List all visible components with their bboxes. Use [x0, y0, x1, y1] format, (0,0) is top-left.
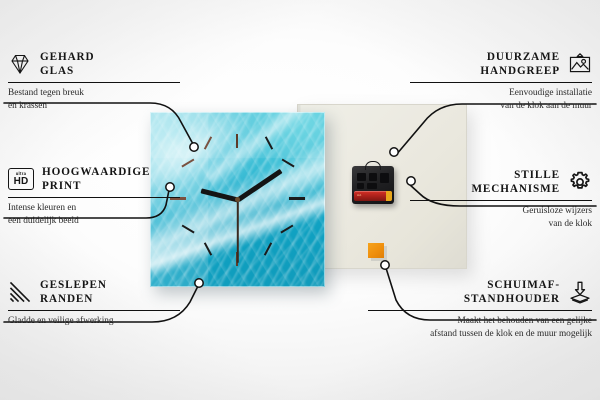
battery-label: AA: [357, 193, 361, 197]
clock-movement: AA: [352, 166, 394, 204]
download-stack-icon: [568, 280, 592, 304]
feature-rule: [8, 82, 180, 84]
feature-title: GEHARD GLAS: [40, 50, 95, 79]
feature-schuimafstandhouder: SCHUIMAF- STANDHOUDER Maakt het behouden…: [360, 278, 592, 340]
movement-hanger-hook: [365, 161, 381, 170]
feature-header: DUURZAME HANDGREEP: [402, 50, 592, 79]
feature-geslepen-randen: GESLEPEN RANDEN Gladde en veilige afwerk…: [8, 278, 188, 328]
feature-title-line1: GEHARD: [40, 51, 95, 63]
feature-header: GEHARD GLAS: [8, 50, 188, 79]
feature-desc-line1: Eenvoudige installatie: [402, 87, 592, 99]
feature-header: ultra HD HOOGWAARDIGE PRINT: [8, 165, 188, 194]
feature-rule: [410, 82, 592, 84]
feature-gehard-glas: GEHARD GLAS Bestand tegen breuk en krass…: [8, 50, 188, 112]
feature-desc-line1: Gladde en veilige afwerking: [8, 315, 188, 327]
movement-slot: [380, 173, 389, 183]
feature-title-line2: MECHANISME: [471, 182, 560, 196]
feature-title-line1: STILLE: [514, 169, 560, 181]
feature-header: GESLEPEN RANDEN: [8, 278, 188, 307]
feature-description: Bestand tegen breuk en krassen: [8, 87, 188, 112]
feature-stille-mechanisme: STILLE MECHANISME Geruisloze wijzers van…: [402, 168, 592, 230]
movement-slot: [357, 183, 364, 189]
feature-desc-line1: Maakt het behouden van een gelijke: [360, 315, 592, 327]
feature-rule: [8, 310, 180, 312]
feature-title: HOOGWAARDIGE PRINT: [42, 165, 150, 194]
feature-title-line1: DUURZAME: [487, 51, 560, 63]
feature-title-line1: GESLEPEN: [40, 279, 107, 291]
beveled-edge-icon: [8, 280, 32, 304]
feature-title-line2: RANDEN: [40, 292, 107, 306]
feature-desc-line1: Bestand tegen breuk: [8, 87, 188, 99]
movement-slot: [357, 173, 366, 181]
feature-description: Eenvoudige installatie van de klok aan d…: [402, 87, 592, 112]
feature-desc-line2: een duidelijk beeld: [8, 215, 188, 227]
feature-rule: [368, 310, 592, 312]
movement-battery: AA: [354, 191, 392, 201]
feature-title-line2: PRINT: [42, 179, 150, 193]
feature-description: Maakt het behouden van een gelijke afsta…: [360, 315, 592, 340]
feature-rule: [410, 200, 592, 202]
feature-header: SCHUIMAF- STANDHOUDER: [360, 278, 592, 307]
ultra-hd-icon-main: HD: [14, 177, 29, 187]
feature-title-line2: HANDGREEP: [480, 64, 560, 78]
ultra-hd-icon: ultra HD: [8, 168, 34, 190]
feature-title: GESLEPEN RANDEN: [40, 278, 107, 307]
feature-rule: [8, 197, 180, 199]
movement-slot: [369, 173, 377, 181]
gear-icon: [568, 170, 592, 194]
feature-title-line1: SCHUIMAF-: [487, 279, 560, 291]
feature-desc-line1: Intense kleuren en: [8, 202, 188, 214]
feature-desc-line2: en krassen: [8, 100, 188, 112]
feature-desc-line2: afstand tussen de klok en de muur mogeli…: [360, 328, 592, 340]
feature-desc-line2: van de klok: [402, 218, 592, 230]
picture-hanger-icon: [568, 52, 592, 76]
feature-title: DUURZAME HANDGREEP: [480, 50, 560, 79]
feature-duurzame-handgreep: DUURZAME HANDGREEP Eenvoudige installati…: [402, 50, 592, 112]
feature-title-line1: HOOGWAARDIGE: [42, 166, 150, 178]
feature-description: Geruisloze wijzers van de klok: [402, 205, 592, 230]
battery-terminal: [386, 191, 392, 201]
feature-header: STILLE MECHANISME: [402, 168, 592, 197]
feature-desc-line1: Geruisloze wijzers: [402, 205, 592, 217]
feature-desc-line2: van de klok aan de muur: [402, 100, 592, 112]
foam-spacer: [368, 243, 384, 258]
feature-title-line2: GLAS: [40, 64, 95, 78]
feature-title-line2: STANDHOUDER: [464, 292, 560, 306]
feature-title: SCHUIMAF- STANDHOUDER: [464, 278, 560, 307]
movement-slot: [367, 183, 377, 189]
feature-description: Gladde en veilige afwerking: [8, 315, 188, 327]
feature-description: Intense kleuren en een duidelijk beeld: [8, 202, 188, 227]
infographic-canvas: AA: [0, 0, 600, 400]
diamond-icon: [8, 52, 32, 76]
feature-hoogwaardige-print: ultra HD HOOGWAARDIGE PRINT Intense kleu…: [8, 165, 188, 227]
feature-title: STILLE MECHANISME: [471, 168, 560, 197]
